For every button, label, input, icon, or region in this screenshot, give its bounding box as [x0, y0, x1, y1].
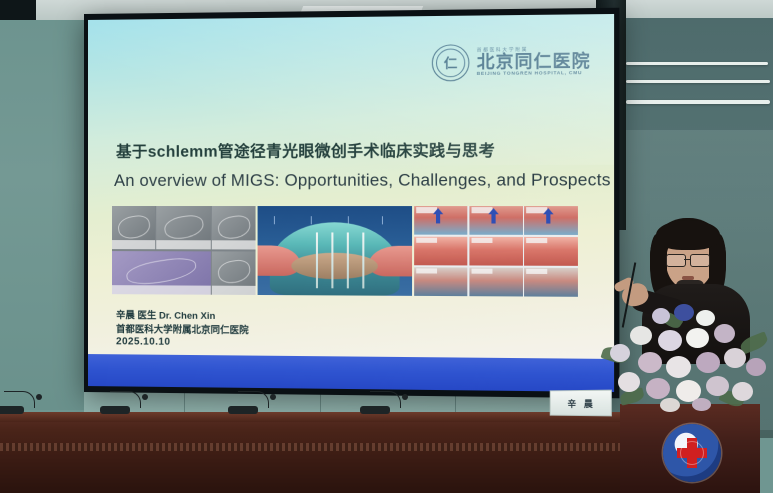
byline-line-3: 2025.10.10 [116, 336, 249, 352]
desk-carved-trim [0, 443, 620, 451]
micrograph-cell [156, 206, 210, 250]
surgical-cell [524, 267, 578, 296]
surgical-cell [524, 237, 578, 266]
iris-lens [291, 252, 377, 279]
surgical-cell [469, 206, 523, 235]
slide-figure-strip [112, 206, 578, 297]
hospital-cross-emblem-icon [663, 424, 721, 482]
eyeglasses-icon [666, 254, 712, 265]
surgical-cell [414, 206, 467, 235]
surgical-cell [524, 206, 578, 235]
slide-title-cn: 基于schlemm管途径青光眼微创手术临床实践与思考 [116, 138, 495, 162]
nameplate-text-2: 晨 [584, 396, 593, 409]
projection-screen-frame: 仁 首都医科大学附属 北京同仁医院 BEIJING TONGREN HOSPIT… [84, 8, 619, 399]
desk-top-edge [0, 412, 620, 422]
slide-title-en: An overview of MIGS: Opportunities, Chal… [114, 171, 611, 191]
nameplate-text-1: 辛 [568, 397, 577, 410]
wall-stripe [626, 62, 768, 65]
logo-cn-big: 北京同仁医院 [477, 52, 591, 71]
microphone [228, 388, 274, 414]
slide-byline: 辛晨 医生 Dr. Chen Xin 首都医科大学附属北京同仁医院 2025.1… [116, 308, 249, 351]
projection-screen: 仁 首都医科大学附属 北京同仁医院 BEIJING TONGREN HOSPIT… [88, 14, 614, 392]
micrograph-cell [212, 206, 255, 250]
micrograph-cell [112, 206, 155, 249]
surgical-cell [469, 267, 523, 296]
floral-arrangement [600, 300, 773, 415]
conference-desk [0, 412, 620, 493]
wall-stripe [626, 100, 770, 104]
surgical-cell [414, 267, 467, 296]
stent-line [362, 233, 364, 289]
speaker-hair-fringe [656, 220, 720, 250]
logo-mark-glyph: 仁 [444, 56, 458, 69]
stent-line [347, 233, 349, 288]
figure-surgical-grid [414, 206, 578, 297]
byline-line-2: 首都医科大学附属北京同仁医院 [116, 322, 249, 337]
microphone [360, 388, 406, 414]
wall-stripe [626, 80, 770, 83]
hospital-logo: 仁 首都医科大学附属 北京同仁医院 BEIJING TONGREN HOSPIT… [432, 43, 591, 81]
surgical-cell [414, 237, 467, 266]
lecture-hall-photo: 仁 首都医科大学附属 北京同仁医院 BEIJING TONGREN HOSPIT… [0, 0, 773, 493]
histology-cell [112, 251, 211, 295]
figure-eye-anatomy [258, 206, 412, 296]
wall-left [0, 20, 95, 410]
slide-bottom-band [88, 354, 614, 392]
figure-micrograph-panel [112, 206, 256, 295]
stent-line [331, 233, 333, 288]
surgical-cell [469, 237, 523, 266]
tongren-emblem-icon: 仁 [432, 44, 470, 81]
micrograph-cell [212, 251, 255, 295]
logo-text: 首都医科大学附属 北京同仁医院 BEIJING TONGREN HOSPITAL… [477, 48, 591, 77]
logo-en: BEIJING TONGREN HOSPITAL, CMU [477, 71, 591, 77]
microphone [0, 388, 40, 414]
stent-line [316, 233, 318, 288]
microphone [100, 388, 146, 414]
byline-line-1: 辛晨 医生 Dr. Chen Xin [116, 308, 249, 323]
